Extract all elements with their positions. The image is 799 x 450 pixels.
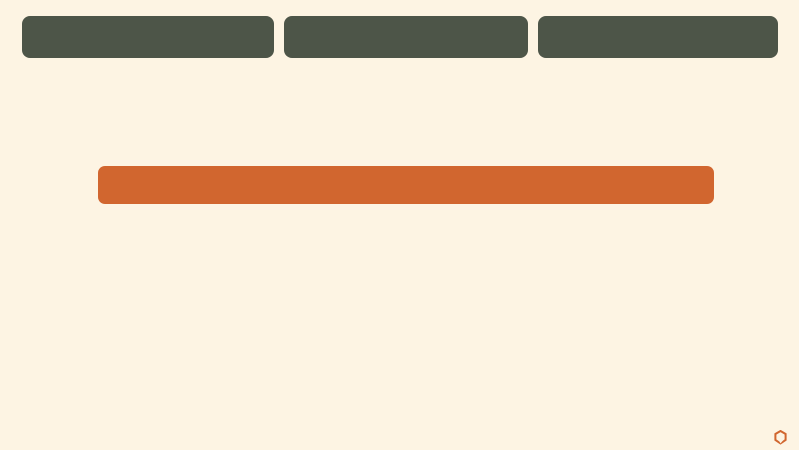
everpure-mark-icon <box>774 430 787 450</box>
header-pill-dynamic-workload-mobility[interactable] <box>284 16 528 58</box>
header-pill-autonomous-operations[interactable] <box>22 16 274 58</box>
header-pill-policy-driven-compliance[interactable] <box>538 16 778 58</box>
intelligent-control-plane-bar[interactable] <box>98 166 714 204</box>
network-connector-layer <box>0 0 799 450</box>
diagram-stage <box>0 0 799 450</box>
header-pill-row <box>0 16 799 58</box>
